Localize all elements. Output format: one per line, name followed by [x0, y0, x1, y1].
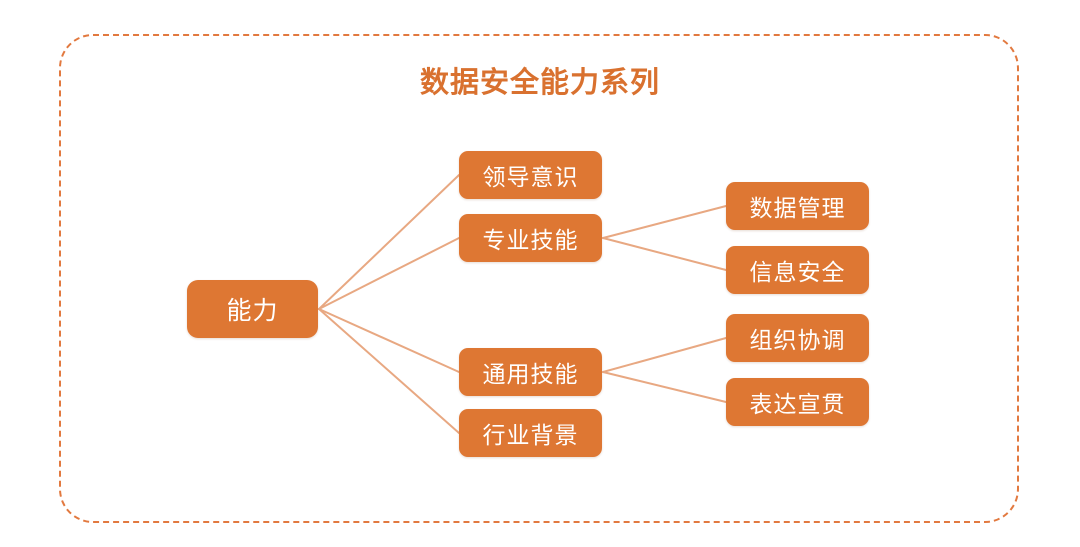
- connector-专业技能-to-信息安全: [603, 238, 726, 270]
- node-expression-communication[interactable]: 表达宣贯: [726, 378, 869, 426]
- connector-通用技能-to-表达宣贯: [603, 372, 726, 402]
- node-data-management[interactable]: 数据管理: [726, 182, 869, 230]
- node-professional-skills[interactable]: 专业技能: [459, 214, 602, 262]
- connector-root-to-专业技能: [319, 238, 459, 309]
- node-general-skills[interactable]: 通用技能: [459, 348, 602, 396]
- connector-专业技能-to-数据管理: [603, 206, 726, 238]
- diagram-canvas: 数据安全能力系列 能力 领导意识 专业技能 通用技能 行业背景 数据管理 信息安…: [0, 0, 1080, 547]
- node-information-security[interactable]: 信息安全: [726, 246, 869, 294]
- page-title: 数据安全能力系列: [0, 62, 1080, 102]
- node-leadership-awareness[interactable]: 领导意识: [459, 151, 602, 199]
- connector-通用技能-to-组织协调: [603, 338, 726, 372]
- connector-root-to-领导意识: [319, 175, 459, 309]
- node-organizational-coordination[interactable]: 组织协调: [726, 314, 869, 362]
- connector-root-to-行业背景: [319, 309, 459, 433]
- connector-root-to-通用技能: [319, 309, 459, 372]
- node-industry-background[interactable]: 行业背景: [459, 409, 602, 457]
- node-root-capability[interactable]: 能力: [187, 280, 318, 338]
